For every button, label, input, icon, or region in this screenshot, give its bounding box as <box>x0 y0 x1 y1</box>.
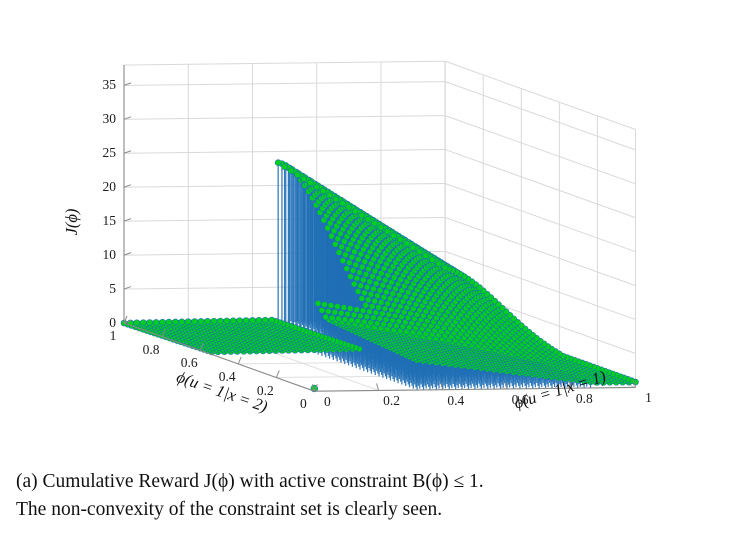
z-tick-10: 10 <box>103 247 117 263</box>
z-tick-15: 15 <box>103 213 117 229</box>
z-tick-25: 25 <box>103 145 117 161</box>
figure-caption: (a) Cumulative Reward J(ϕ) with active c… <box>16 468 740 523</box>
caption-line-1: (a) Cumulative Reward J(ϕ) with active c… <box>16 468 740 496</box>
x-tick-0.8: 0.8 <box>143 342 160 358</box>
x-tick-1: 1 <box>110 328 117 344</box>
figure-panel: 0510152025303510.80.60.40.2000.20.40.60.… <box>0 0 755 555</box>
z-tick-35: 35 <box>103 77 117 93</box>
y-tick-0.2: 0.2 <box>383 393 400 409</box>
z-tick-20: 20 <box>103 179 117 195</box>
z-axis-label: J(ϕ) <box>62 209 82 236</box>
z-tick-30: 30 <box>103 111 117 127</box>
x-tick-0: 0 <box>300 396 307 412</box>
y-tick-0.4: 0.4 <box>447 393 464 409</box>
caption-line-2: The non-convexity of the constraint set … <box>16 496 740 524</box>
z-tick-5: 5 <box>109 281 116 297</box>
y-tick-0: 0 <box>324 394 331 410</box>
plot-figure: 0510152025303510.80.60.40.2000.20.40.60.… <box>0 0 755 460</box>
y-tick-1: 1 <box>645 390 652 406</box>
plot-canvas <box>0 0 755 460</box>
